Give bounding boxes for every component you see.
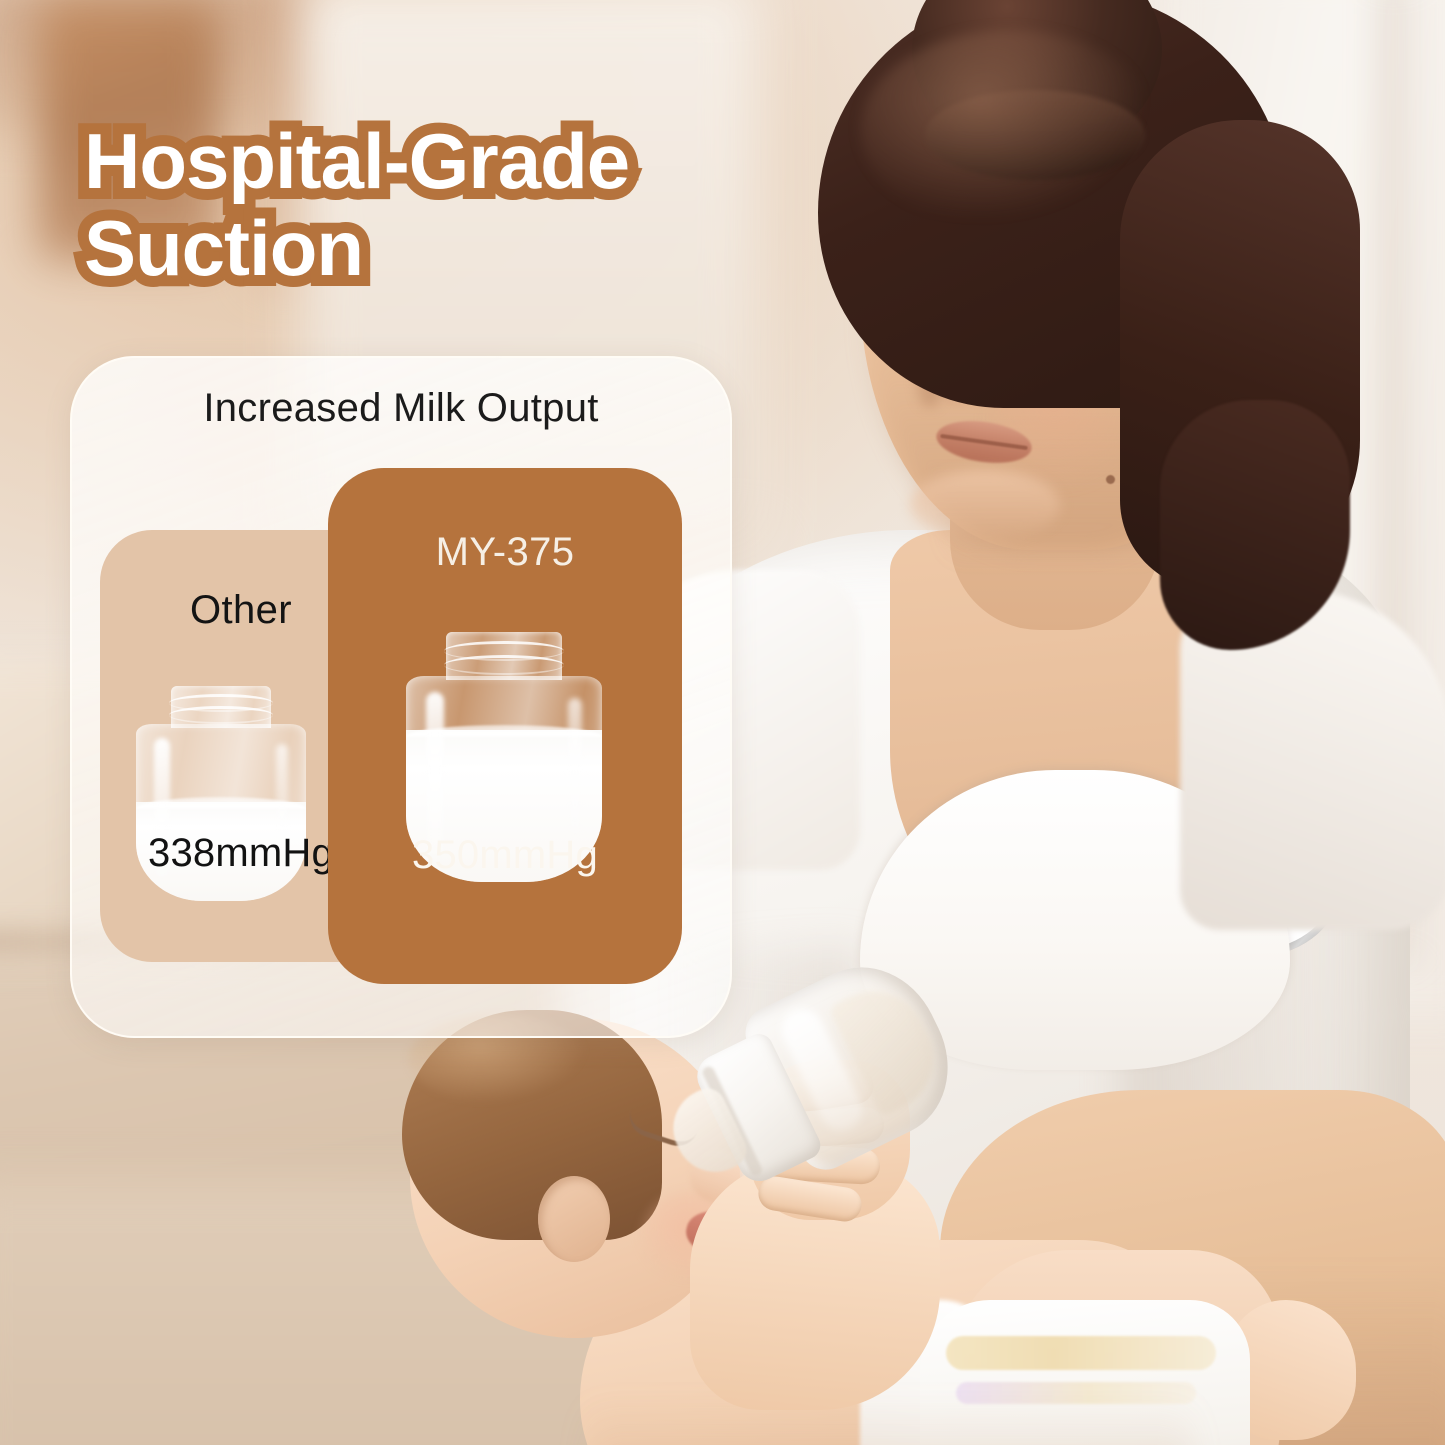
diaper-waistband xyxy=(946,1336,1216,1370)
headline-line-2: Suction xyxy=(84,205,784,292)
column-label-my375: MY-375 xyxy=(328,530,682,575)
baby-ear xyxy=(538,1176,610,1262)
card-title: Increased Milk Output xyxy=(72,386,730,431)
comparison-card: Increased Milk Output Other 338mmHg xyxy=(70,356,732,1038)
jar-highlight-right xyxy=(568,698,582,840)
mother-chin xyxy=(910,470,1060,540)
jar-thread xyxy=(444,655,564,675)
jar-thread xyxy=(169,706,273,724)
comparison-column-my375: MY-375 350mmHg xyxy=(328,468,682,984)
headline: Hospital-Grade Suction xyxy=(84,118,784,293)
column-value-my375: 350mmHg xyxy=(328,833,682,878)
headline-line-1: Hospital-Grade xyxy=(84,118,784,205)
hair-sheen xyxy=(860,30,1160,230)
mother-mole xyxy=(1106,475,1115,484)
product-marketing-image: Hospital-Grade Suction Increased Milk Ou… xyxy=(0,0,1445,1445)
baby-body-shadow xyxy=(590,1400,1190,1445)
